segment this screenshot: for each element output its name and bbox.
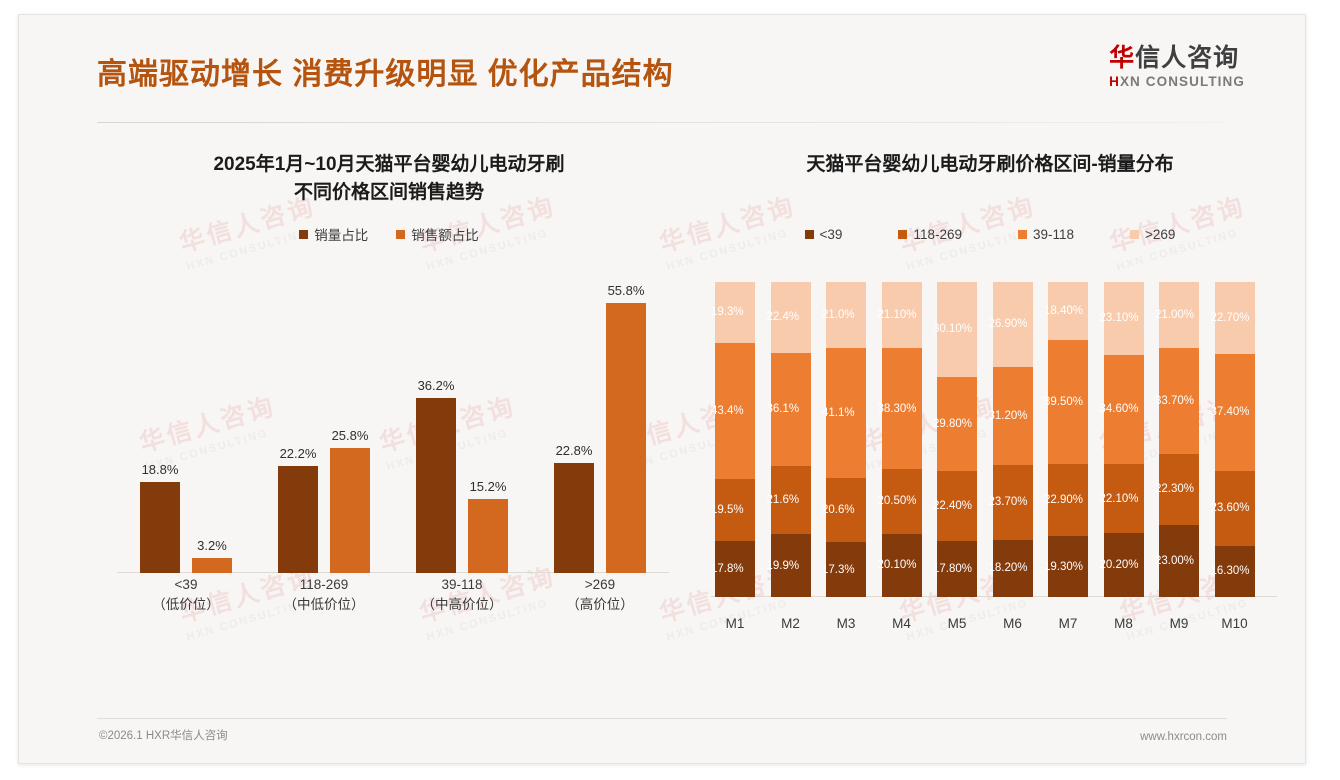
stack-segment-118-269: 23.70% (993, 465, 1033, 540)
stacked-column-M4[interactable]: 21.10%38.30%20.50%20.10% (882, 282, 922, 597)
legend-item-0[interactable]: 销量占比 (299, 224, 368, 244)
category-sub: （高价位） (531, 595, 669, 615)
stacked-x-axis-label: M8 (1104, 616, 1144, 631)
stack-segment-118-269: 20.50% (882, 469, 922, 534)
stack-value-label: 21.10% (878, 309, 926, 321)
stack-segment-39-118: 41.1% (826, 348, 866, 477)
stacked-column-M10[interactable]: 22.70%37.40%23.60%16.30% (1215, 282, 1255, 597)
bar-销量占比-118-269[interactable]: 22.2% (278, 273, 318, 573)
bar-value-label: 55.8% (608, 283, 645, 298)
stack-segment-39-118: 29.80% (937, 377, 977, 471)
legend-label: 销量占比 (314, 224, 368, 244)
stack-value-label: 19.30% (1044, 561, 1092, 573)
legend-label: 118-269 (913, 227, 962, 242)
legend-swatch-icon (396, 230, 405, 239)
stack-segment-<39: 18.20% (993, 540, 1033, 597)
stack-value-label: 34.60% (1100, 403, 1148, 415)
stacked-column-M5[interactable]: 30.10%29.80%22.40%17.80% (937, 282, 977, 597)
stacked-column-M1[interactable]: 19.3%43.4%19.5%17.8% (715, 282, 755, 597)
slide-header: 高端驱动增长 消费升级明显 优化产品结构 华信人咨询 HXN CONSULTIN… (19, 15, 1305, 127)
bar-rect (468, 499, 508, 573)
stack-value-label: 23.10% (1100, 312, 1148, 324)
x-axis-category-label: >269（高价位） (531, 568, 669, 613)
stack-value-label: 21.6% (767, 494, 815, 506)
left-chart-panel: 2025年1月~10月天猫平台婴幼儿电动牙刷 不同价格区间销售趋势 销量占比销售… (89, 135, 689, 705)
stacked-x-axis-label: M9 (1159, 616, 1199, 631)
grouped-bar-plot-area: 18.8%3.2%<39（低价位）22.2%25.8%118-269（中低价位）… (117, 283, 669, 613)
stack-value-label: 26.90% (989, 318, 1037, 330)
footer-website: www.hxrcon.com (1140, 731, 1227, 743)
stack-segment-<39: 17.8% (715, 541, 755, 597)
stack-segment-118-269: 21.6% (771, 466, 811, 534)
stack-segment-<39: 20.10% (882, 534, 922, 597)
stack-segment-118-269: 20.6% (826, 478, 866, 543)
stack-value-label: 39.50% (1044, 396, 1092, 408)
grouped-bar-chart: 18.8%3.2%<39（低价位）22.2%25.8%118-269（中低价位）… (99, 283, 679, 653)
left-chart-title-line2: 不同价格区间销售趋势 (89, 179, 689, 207)
stack-value-label: 17.80% (933, 563, 981, 575)
legend-swatch-icon (805, 230, 814, 239)
bar-销量占比-39-118[interactable]: 36.2% (416, 273, 456, 573)
right-chart-legend: <39118-26939-118>269 (691, 227, 1289, 242)
stack-segment-39-118: 37.40% (1215, 354, 1255, 472)
stack-segment-<39: 19.30% (1048, 536, 1088, 597)
left-chart-title: 2025年1月~10月天猫平台婴幼儿电动牙刷 不同价格区间销售趋势 (89, 151, 689, 206)
stack-segment->269: 22.4% (771, 282, 811, 353)
stack-value-label: 22.70% (1211, 312, 1259, 324)
bar-销售额占比-<39[interactable]: 3.2% (192, 273, 232, 573)
category-sub: （中低价位） (255, 595, 393, 615)
logo-english-accent: H (1109, 74, 1120, 89)
stack-segment-118-269: 22.30% (1159, 454, 1199, 524)
stack-value-label: 20.50% (878, 495, 926, 507)
stacked-x-axis-label: M3 (826, 616, 866, 631)
stacked-bar-chart: 19.3%43.4%19.5%17.8%M122.4%36.1%21.6%19.… (697, 313, 1283, 673)
bar-rect (554, 463, 594, 573)
stack-value-label: 22.40% (933, 500, 981, 512)
stack-value-label: 21.0% (822, 309, 870, 321)
stack-value-label: 21.00% (1155, 309, 1203, 321)
stacked-x-axis-label: M7 (1048, 616, 1088, 631)
stack-segment-39-118: 39.50% (1048, 340, 1088, 464)
stacked-column-M6[interactable]: 26.90%31.20%23.70%18.20% (993, 282, 1033, 597)
stacked-x-axis-label: M6 (993, 616, 1033, 631)
bar-销售额占比->269[interactable]: 55.8% (606, 273, 646, 573)
stack-value-label: 29.80% (933, 418, 981, 430)
stacked-column-M3[interactable]: 21.0%41.1%20.6%17.3% (826, 282, 866, 597)
stack-segment-<39: 19.9% (771, 534, 811, 597)
stack-segment-39-118: 36.1% (771, 353, 811, 467)
footer-divider (97, 718, 1227, 719)
stack-segment-39-118: 34.60% (1104, 355, 1144, 464)
stacked-x-axis-label: M10 (1215, 616, 1255, 631)
right-chart-panel: 天猫平台婴幼儿电动牙刷价格区间-销量分布 <39118-26939-118>26… (691, 135, 1289, 705)
left-chart-title-line1: 2025年1月~10月天猫平台婴幼儿电动牙刷 (89, 151, 689, 179)
stack-value-label: 19.9% (767, 560, 815, 572)
stack-value-label: 23.70% (989, 496, 1037, 508)
stack-segment->269: 21.00% (1159, 282, 1199, 348)
legend-swatch-icon (1130, 230, 1139, 239)
stack-value-label: 18.20% (989, 562, 1037, 574)
legend-swatch-icon (1018, 230, 1027, 239)
bar-销售额占比-118-269[interactable]: 25.8% (330, 273, 370, 573)
bar-group: 22.2%25.8% (255, 273, 393, 573)
legend-swatch-icon (299, 230, 308, 239)
stack-value-label: 30.10% (933, 323, 981, 335)
company-logo: 华信人咨询 HXN CONSULTING (1109, 45, 1245, 89)
legend-swatch-icon (898, 230, 907, 239)
legend-item-2[interactable]: 39-118 (1018, 227, 1074, 242)
legend-item-0[interactable]: <39 (805, 227, 843, 242)
stack-segment->269: 22.70% (1215, 282, 1255, 354)
category-main: 118-269 (255, 575, 393, 595)
legend-item-1[interactable]: 118-269 (898, 227, 962, 242)
stack-value-label: 33.70% (1155, 395, 1203, 407)
stacked-x-axis-label: M4 (882, 616, 922, 631)
bar-rect (278, 466, 318, 573)
legend-item-1[interactable]: 销售额占比 (396, 224, 479, 244)
bar-rect (140, 482, 180, 573)
category-main: >269 (531, 575, 669, 595)
logo-english-rest: XN CONSULTING (1120, 74, 1245, 89)
bar-value-label: 22.2% (280, 446, 317, 461)
slide: 高端驱动增长 消费升级明显 优化产品结构 华信人咨询 HXN CONSULTIN… (18, 14, 1306, 764)
right-chart-title: 天猫平台婴幼儿电动牙刷价格区间-销量分布 (691, 151, 1289, 179)
category-sub: （低价位） (117, 595, 255, 615)
stack-value-label: 38.30% (878, 403, 926, 415)
category-sub: （中高价位） (393, 595, 531, 615)
bar-value-label: 3.2% (197, 538, 227, 553)
stack-segment->269: 26.90% (993, 282, 1033, 367)
bar-group: 36.2%15.2% (393, 273, 531, 573)
stacked-column-M8[interactable]: 23.10%34.60%22.10%20.20% (1104, 282, 1144, 597)
x-axis-category-label: <39（低价位） (117, 568, 255, 613)
stack-segment-118-269: 19.5% (715, 479, 755, 540)
stack-segment-118-269: 23.60% (1215, 471, 1255, 545)
stacked-x-axis-label: M1 (715, 616, 755, 631)
footer-copyright: ©2026.1 HXR华信人咨询 (99, 727, 228, 743)
logo-chinese-rest: 信人咨询 (1135, 44, 1239, 72)
stack-value-label: 37.40% (1211, 406, 1259, 418)
bar-销售额占比-39-118[interactable]: 15.2% (468, 273, 508, 573)
stack-segment-39-118: 31.20% (993, 367, 1033, 465)
stack-value-label: 17.3% (822, 564, 870, 576)
stack-segment-39-118: 38.30% (882, 348, 922, 469)
x-axis-category-label: 118-269（中低价位） (255, 568, 393, 613)
stack-segment-39-118: 43.4% (715, 343, 755, 480)
stacked-column-M9[interactable]: 21.00%33.70%22.30%23.00% (1159, 282, 1199, 597)
stack-value-label: 20.10% (878, 559, 926, 571)
stack-value-label: 18.40% (1044, 305, 1092, 317)
stack-value-label: 16.30% (1211, 565, 1259, 577)
stacked-x-axis-label: M5 (937, 616, 977, 631)
logo-chinese-accent: 华 (1109, 44, 1135, 72)
stack-segment->269: 18.40% (1048, 282, 1088, 340)
category-main: 39-118 (393, 575, 531, 595)
stack-value-label: 22.10% (1100, 493, 1148, 505)
bar-group: 18.8%3.2% (117, 273, 255, 573)
stack-segment-118-269: 22.40% (937, 471, 977, 541)
bar-value-label: 15.2% (470, 479, 507, 494)
header-divider (97, 122, 1227, 123)
stack-value-label: 43.4% (711, 405, 759, 417)
stack-segment->269: 21.10% (882, 282, 922, 348)
stack-value-label: 19.5% (711, 504, 759, 516)
logo-english: HXN CONSULTING (1109, 74, 1245, 89)
stack-segment-<39: 17.80% (937, 541, 977, 597)
stack-segment-118-269: 22.90% (1048, 464, 1088, 536)
stack-value-label: 22.30% (1155, 483, 1203, 495)
stack-value-label: 22.90% (1044, 494, 1092, 506)
bar-rect (330, 448, 370, 573)
bar-rect (606, 303, 646, 573)
bar-value-label: 36.2% (418, 378, 455, 393)
bar-value-label: 22.8% (556, 443, 593, 458)
x-axis-category-label: 39-118（中高价位） (393, 568, 531, 613)
bar-value-label: 25.8% (332, 428, 369, 443)
stacked-bar-plot-area: 19.3%43.4%19.5%17.8%M122.4%36.1%21.6%19.… (707, 313, 1277, 635)
stack-segment->269: 19.3% (715, 282, 755, 343)
stack-segment->269: 21.0% (826, 282, 866, 348)
stack-value-label: 23.60% (1211, 502, 1259, 514)
page-title: 高端驱动增长 消费升级明显 优化产品结构 (97, 49, 674, 93)
stack-value-label: 20.20% (1100, 559, 1148, 571)
stack-segment->269: 23.10% (1104, 282, 1144, 355)
stacked-column-M2[interactable]: 22.4%36.1%21.6%19.9% (771, 282, 811, 597)
stack-value-label: 41.1% (822, 407, 870, 419)
stacked-column-M7[interactable]: 18.40%39.50%22.90%19.30% (1048, 282, 1088, 597)
stacked-x-axis-label: M2 (771, 616, 811, 631)
left-chart-legend: 销量占比销售额占比 (89, 224, 689, 244)
stack-value-label: 23.00% (1155, 555, 1203, 567)
logo-chinese: 华信人咨询 (1109, 45, 1245, 71)
legend-label: >269 (1145, 227, 1175, 242)
legend-label: 39-118 (1033, 227, 1074, 242)
stack-segment-<39: 23.00% (1159, 525, 1199, 597)
bar-销量占比->269[interactable]: 22.8% (554, 273, 594, 573)
bar-value-label: 18.8% (142, 462, 179, 477)
stack-segment-<39: 17.3% (826, 542, 866, 596)
stack-value-label: 22.4% (767, 311, 815, 323)
stack-value-label: 20.6% (822, 504, 870, 516)
stack-segment->269: 30.10% (937, 282, 977, 377)
stack-segment-118-269: 22.10% (1104, 464, 1144, 534)
stack-segment-<39: 20.20% (1104, 533, 1144, 597)
stack-value-label: 19.3% (711, 306, 759, 318)
bar-销量占比-<39[interactable]: 18.8% (140, 273, 180, 573)
legend-label: 销售额占比 (411, 224, 479, 244)
bar-group: 22.8%55.8% (531, 273, 669, 573)
stack-value-label: 36.1% (767, 403, 815, 415)
category-main: <39 (117, 575, 255, 595)
stack-value-label: 31.20% (989, 410, 1037, 422)
legend-label: <39 (820, 227, 843, 242)
stack-value-label: 17.8% (711, 563, 759, 575)
bar-rect (416, 398, 456, 573)
stack-segment-39-118: 33.70% (1159, 348, 1199, 454)
legend-item-3[interactable]: >269 (1130, 227, 1175, 242)
stack-segment-<39: 16.30% (1215, 546, 1255, 597)
